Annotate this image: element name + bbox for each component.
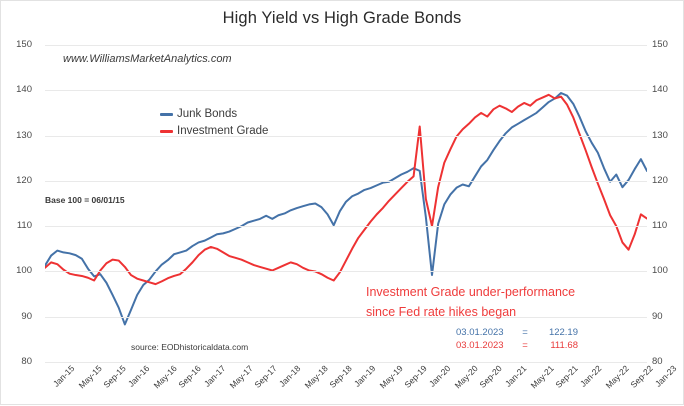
series-line-investment-grade	[45, 95, 647, 284]
value-label-number: 122.19	[534, 326, 578, 339]
x-axis-tick: Jan-17	[202, 364, 226, 388]
x-axis-tick: May-21	[529, 364, 555, 390]
y-axis-tick-right: 80	[652, 357, 663, 367]
x-axis-tick: May-19	[378, 364, 404, 390]
y-axis-tick-right: 120	[652, 176, 668, 186]
gridline	[45, 271, 647, 272]
x-axis-tick: Jan-16	[127, 364, 151, 388]
y-axis-tick-right: 90	[652, 312, 663, 322]
x-axis-tick: Sep-16	[177, 364, 202, 389]
x-axis-tick: Sep-21	[554, 364, 579, 389]
x-axis-tick: May-17	[228, 364, 254, 390]
chart-title: High Yield vs High Grade Bonds	[1, 9, 683, 28]
legend-item-junk-bonds: Junk Bonds	[160, 106, 268, 123]
x-axis-tick: Sep-15	[102, 364, 127, 389]
gridline	[45, 226, 647, 227]
legend-label-investment-grade: Investment Grade	[177, 123, 268, 140]
source-note: source: EODhistoricaldata.com	[131, 342, 248, 352]
x-axis: Jan-15May-15Sep-15Jan-16May-16Sep-16Jan-…	[45, 362, 647, 406]
value-label-date: 03.01.2023	[456, 339, 516, 352]
gridline	[45, 45, 647, 46]
y-axis-tick-left: 120	[16, 176, 32, 186]
x-axis-tick: Sep-18	[328, 364, 353, 389]
legend-swatch-red	[160, 130, 173, 133]
y-axis-tick-right: 140	[652, 85, 668, 95]
y-axis-tick-right: 110	[652, 221, 667, 231]
x-axis-tick: May-22	[604, 364, 630, 390]
x-axis-tick: Jan-23	[654, 364, 678, 388]
x-axis-tick: Sep-22	[629, 364, 654, 389]
y-axis-tick-left: 90	[21, 312, 32, 322]
value-labels: 03.01.2023=122.1903.01.2023=111.68	[456, 326, 578, 352]
x-axis-tick: May-16	[153, 364, 179, 390]
y-axis-tick-right: 150	[652, 40, 668, 50]
x-axis-tick: Jan-22	[578, 364, 602, 388]
x-axis-tick: May-20	[454, 364, 480, 390]
y-axis-tick-left: 150	[16, 40, 32, 50]
legend-label-junk-bonds: Junk Bonds	[177, 106, 237, 123]
y-axis-tick-left: 80	[21, 357, 32, 367]
x-axis-tick: May-18	[303, 364, 329, 390]
x-axis-tick: Jan-20	[428, 364, 452, 388]
base-note: Base 100 = 06/01/15	[45, 195, 125, 205]
annotation-line-1: Investment Grade under-performance	[366, 282, 575, 302]
x-axis-tick: Jan-18	[277, 364, 301, 388]
legend-item-investment-grade: Investment Grade	[160, 123, 268, 140]
x-axis-tick: Jan-21	[503, 364, 527, 388]
value-label-equals: =	[516, 339, 534, 352]
y-axis-tick-left: 130	[16, 131, 32, 141]
annotation-line-2: since Fed rate hikes began	[366, 302, 575, 322]
value-label-row: 03.01.2023=111.68	[456, 339, 578, 352]
value-label-equals: =	[516, 326, 534, 339]
annotation-text: Investment Grade under-performance since…	[366, 282, 575, 322]
gridline	[45, 181, 647, 182]
x-axis-tick: Sep-19	[403, 364, 428, 389]
gridline	[45, 90, 647, 91]
gridline	[45, 136, 647, 137]
y-axis-tick-right: 100	[652, 266, 668, 276]
chart-figure: High Yield vs High Grade Bonds www.Willi…	[0, 0, 684, 405]
value-label-date: 03.01.2023	[456, 326, 516, 339]
y-axis-tick-right: 130	[652, 131, 668, 141]
x-axis-tick: Jan-15	[52, 364, 76, 388]
value-label-number: 111.68	[534, 339, 578, 352]
legend-swatch-blue	[160, 113, 173, 116]
x-axis-tick: Sep-20	[478, 364, 503, 389]
y-axis-tick-left: 140	[16, 85, 32, 95]
y-axis-tick-left: 110	[17, 221, 32, 231]
x-axis-tick: Sep-17	[253, 364, 278, 389]
chart-legend: Junk Bonds Investment Grade	[160, 106, 268, 140]
x-axis-tick: May-15	[77, 364, 103, 390]
y-axis-tick-left: 100	[16, 266, 32, 276]
x-axis-tick: Jan-19	[353, 364, 377, 388]
value-label-row: 03.01.2023=122.19	[456, 326, 578, 339]
